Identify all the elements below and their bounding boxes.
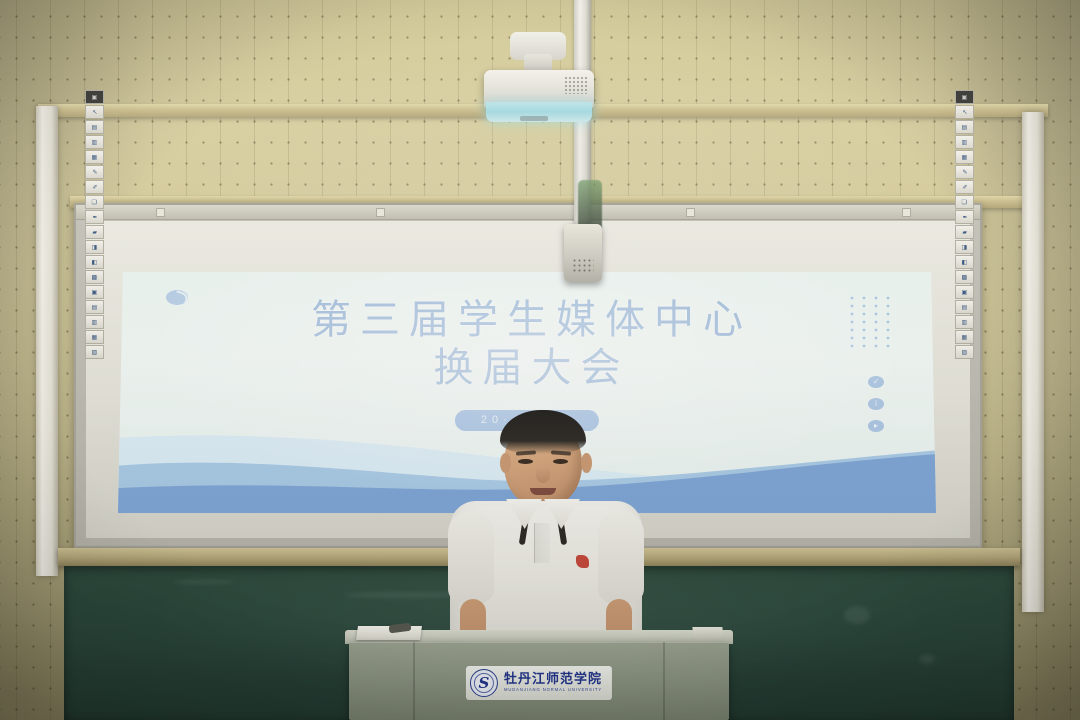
camera-tool-icon-glyph: ▣ (92, 289, 98, 295)
marker-tool-icon[interactable]: ✒ (85, 210, 104, 224)
media-tool-icon-glyph: ▤ (92, 304, 98, 310)
plaque-name-chinese: 牡丹江师范学院 (504, 673, 602, 686)
wall-sensor-unit (564, 224, 602, 282)
grid-tool-icon-glyph: ▦ (962, 154, 968, 160)
highlighter-tool-icon[interactable]: ▰ (955, 225, 974, 239)
slide-title: 第三届学生媒体中心 换届大会 (118, 296, 936, 391)
presenter-ear-left (500, 453, 511, 473)
shape-tool-icon-glyph: ◧ (92, 259, 98, 265)
projector-vent-grille (564, 76, 588, 94)
grid-tool-icon[interactable]: ▦ (85, 150, 104, 164)
slide-title-line-2: 换届大会 (118, 345, 936, 391)
marker-tool-icon-glyph: ✒ (92, 214, 97, 220)
pen-tool-icon-glyph: ✎ (962, 169, 967, 175)
window-tool-icon-glyph: ▥ (962, 139, 968, 145)
lecture-hall-scene: ✓ i ▸ 第三届学生媒体中心 换届大会 20· · · ·9 ▣↖▤▥▦✎✐❏… (0, 0, 1080, 720)
cursor-tool-icon[interactable]: ↖ (85, 105, 104, 119)
keyboard-tool-icon-glyph: ▩ (962, 274, 968, 280)
keyboard-tool-icon-glyph: ▩ (92, 274, 98, 280)
page-tool-icon[interactable]: ▤ (85, 120, 104, 134)
window-tool-icon[interactable]: ▥ (85, 135, 104, 149)
settings-tool-icon-glyph: ▧ (962, 349, 968, 355)
grid-tool-icon-glyph: ▦ (92, 154, 98, 160)
select-tool-icon-glyph: ▣ (962, 94, 968, 100)
whiteboard-bar-seam (156, 208, 165, 217)
marker-tool-icon[interactable]: ✒ (955, 210, 974, 224)
select-tool-icon-glyph: ▣ (92, 94, 98, 100)
camera-tool-icon-glyph: ▣ (962, 289, 968, 295)
whiteboard-bar-seam (686, 208, 695, 217)
pencil-tool-icon-glyph: ✐ (962, 184, 967, 190)
camera-tool-icon[interactable]: ▣ (955, 285, 974, 299)
chalk-smudge (844, 606, 870, 624)
presenter-ear-right (581, 453, 592, 473)
eraser-tool-icon[interactable]: ◨ (85, 240, 104, 254)
lectern-panel-seam (413, 642, 415, 720)
lectern-panel-seam (663, 642, 665, 720)
plaque-name-english: MUDANJIANG NORMAL UNIVERSITY (504, 688, 602, 692)
presenter-eye-left (518, 459, 533, 464)
window-tool-icon[interactable]: ▥ (955, 135, 974, 149)
grid-tool-icon[interactable]: ▦ (955, 150, 974, 164)
pencil-tool-icon[interactable]: ✐ (955, 180, 974, 194)
brush-tool-icon[interactable]: ❏ (85, 195, 104, 209)
dot-grid-icon (846, 294, 892, 348)
whiteboard-tool-palette-right[interactable]: ▣↖▤▥▦✎✐❏✒▰◨◧▩▣▤▥▦▧ (955, 90, 974, 359)
settings-tool-icon[interactable]: ▧ (85, 345, 104, 359)
pen-tool-icon[interactable]: ✎ (955, 165, 974, 179)
cursor-tool-icon[interactable]: ↖ (955, 105, 974, 119)
chalk-smudge (919, 654, 935, 664)
whiteboard-pillar-left (36, 106, 58, 576)
color-tool-icon[interactable]: ▥ (955, 315, 974, 329)
pen-tool-icon[interactable]: ✎ (85, 165, 104, 179)
slide-title-line-1: 第三届学生媒体中心 (118, 296, 936, 345)
settings-tool-icon[interactable]: ▧ (955, 345, 974, 359)
whiteboard-bar-seam (902, 208, 911, 217)
check-circle-icon: ✓ (868, 376, 884, 388)
keyboard-tool-icon[interactable]: ▩ (85, 270, 104, 284)
pencil-tool-icon-glyph: ✐ (92, 184, 97, 190)
color-tool-icon-glyph: ▥ (962, 319, 968, 325)
highlighter-tool-icon-glyph: ▰ (92, 229, 97, 235)
settings-tool-icon-glyph: ▧ (92, 349, 98, 355)
color-tool-icon-glyph: ▥ (92, 319, 98, 325)
page-tool-icon-glyph: ▤ (962, 124, 968, 130)
media-tool-icon[interactable]: ▤ (85, 300, 104, 314)
whiteboard-pillar-right (1022, 112, 1044, 612)
plaque-text-block: 牡丹江师范学院 MUDANJIANG NORMAL UNIVERSITY (504, 673, 602, 692)
color-tool-icon[interactable]: ▥ (85, 315, 104, 329)
highlighter-tool-icon[interactable]: ▰ (85, 225, 104, 239)
university-seal-icon: S (470, 669, 498, 697)
presenter-hair (500, 410, 586, 454)
presenter-sleeve-left (448, 511, 494, 603)
page-tool-icon-glyph: ▤ (92, 124, 98, 130)
save-tool-icon-glyph: ▦ (92, 334, 98, 340)
shape-tool-icon-glyph: ◧ (962, 259, 968, 265)
save-tool-icon-glyph: ▦ (962, 334, 968, 340)
marker-tool-icon-glyph: ✒ (962, 214, 967, 220)
page-tool-icon[interactable]: ▤ (955, 120, 974, 134)
arc-mark-icon (166, 290, 188, 305)
camera-tool-icon[interactable]: ▣ (85, 285, 104, 299)
pencil-tool-icon[interactable]: ✐ (85, 180, 104, 194)
brush-tool-icon-glyph: ❏ (962, 199, 967, 205)
presenter-shirt-placket (534, 523, 550, 563)
lectern-right-object (692, 627, 723, 639)
university-plaque: S 牡丹江师范学院 MUDANJIANG NORMAL UNIVERSITY (466, 666, 612, 700)
eraser-tool-icon[interactable]: ◨ (955, 240, 974, 254)
cursor-tool-icon-glyph: ↖ (92, 109, 97, 115)
media-tool-icon[interactable]: ▤ (955, 300, 974, 314)
select-tool-icon[interactable]: ▣ (955, 90, 974, 104)
presenter-mouth (530, 488, 556, 495)
sensor-grille-icon (572, 258, 594, 272)
keyboard-tool-icon[interactable]: ▩ (955, 270, 974, 284)
lectern: S 牡丹江师范学院 MUDANJIANG NORMAL UNIVERSITY (345, 630, 733, 720)
ceiling-projector (480, 24, 610, 274)
select-tool-icon[interactable]: ▣ (85, 90, 104, 104)
pen-tool-icon-glyph: ✎ (92, 169, 97, 175)
shape-tool-icon[interactable]: ◧ (955, 255, 974, 269)
save-tool-icon[interactable]: ▦ (85, 330, 104, 344)
seal-letter: S (479, 676, 490, 691)
presenter-chest-logo (576, 555, 589, 568)
chalk-smudge (174, 580, 234, 584)
brush-tool-icon[interactable]: ❏ (955, 195, 974, 209)
save-tool-icon[interactable]: ▦ (955, 330, 974, 344)
brush-tool-icon-glyph: ❏ (92, 199, 97, 205)
cursor-tool-icon-glyph: ↖ (962, 109, 967, 115)
eraser-tool-icon-glyph: ◨ (92, 244, 98, 250)
window-tool-icon-glyph: ▥ (92, 139, 98, 145)
projector-brand-label (520, 116, 548, 121)
shape-tool-icon[interactable]: ◧ (85, 255, 104, 269)
eraser-tool-icon-glyph: ◨ (962, 244, 968, 250)
presenter-sleeve-right (598, 511, 644, 603)
media-tool-icon-glyph: ▤ (962, 304, 968, 310)
whiteboard-tool-palette-left[interactable]: ▣↖▤▥▦✎✐❏✒▰◨◧▩▣▤▥▦▧ (85, 90, 104, 359)
presenter-eye-right (553, 459, 568, 464)
presenter-nose (536, 467, 550, 483)
highlighter-tool-icon-glyph: ▰ (962, 229, 967, 235)
whiteboard-bar-seam (376, 208, 385, 217)
